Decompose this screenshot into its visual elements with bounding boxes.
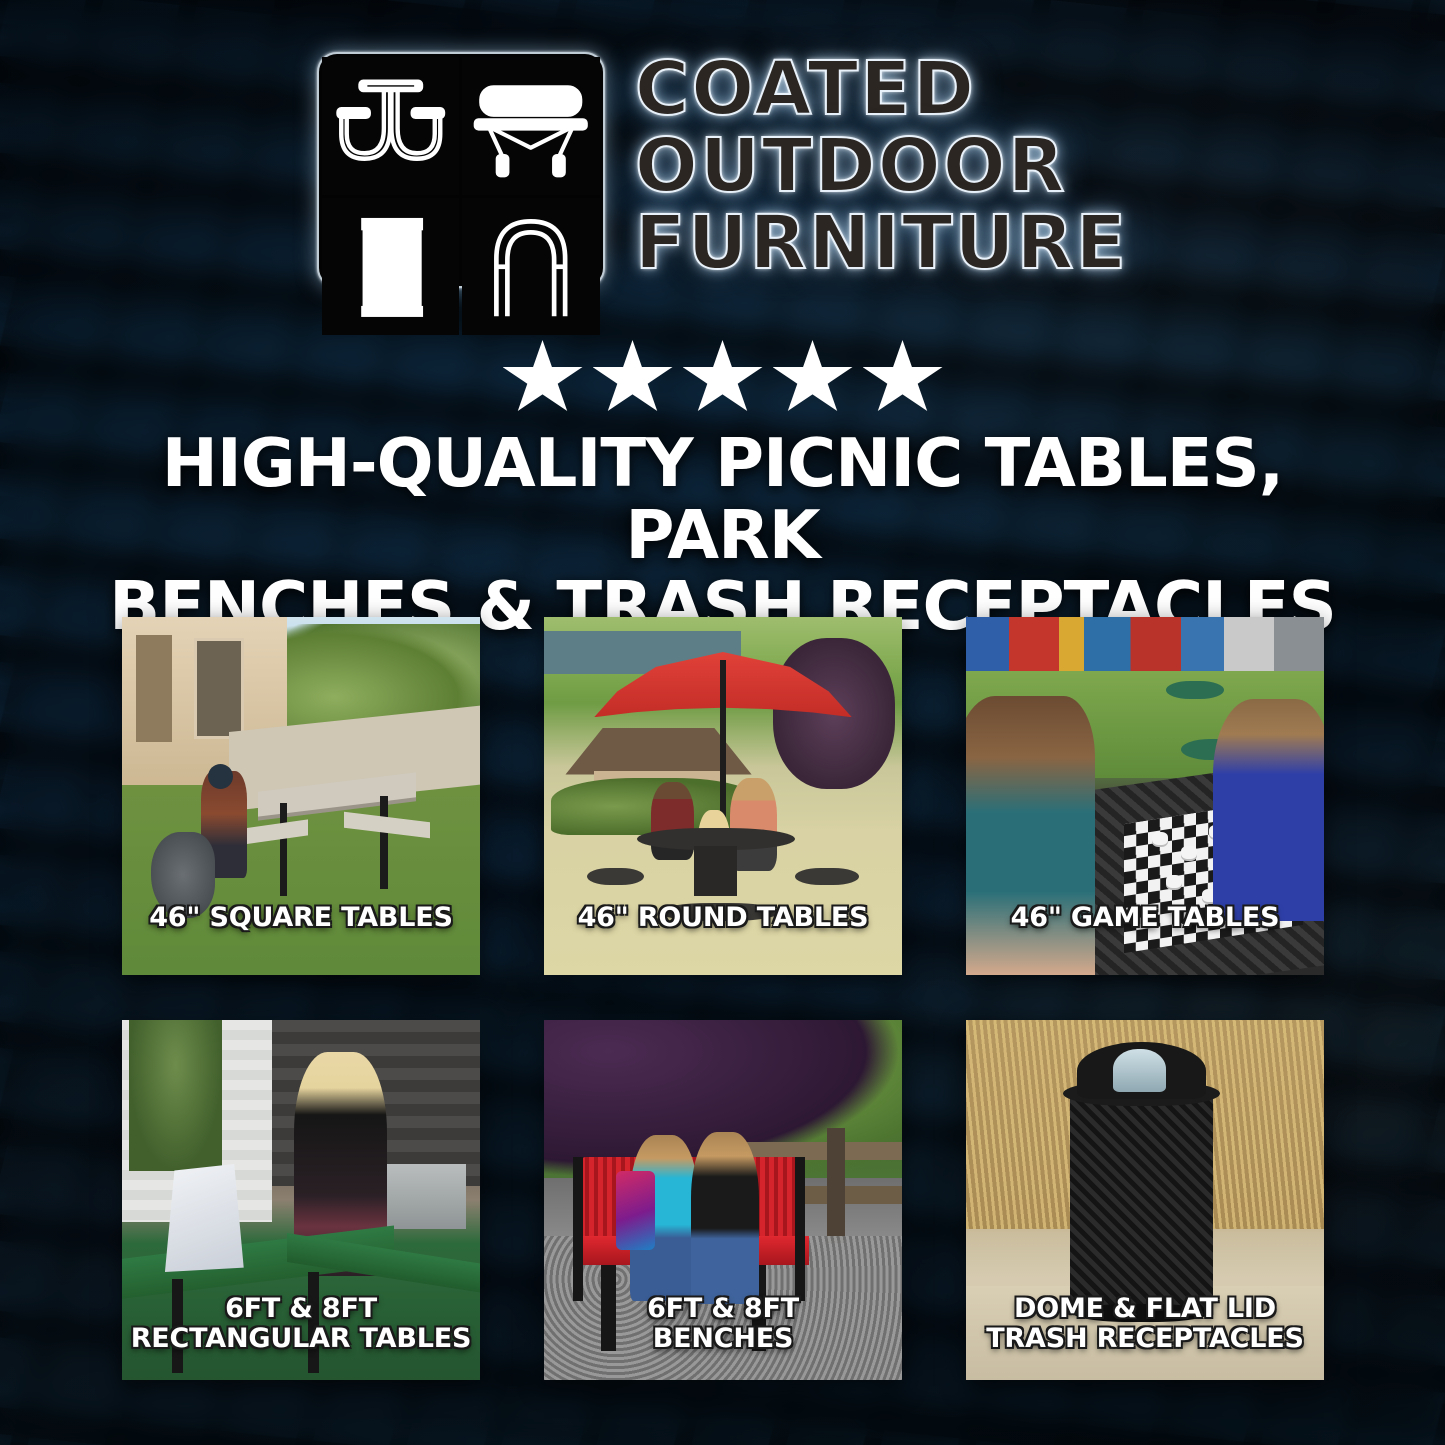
dome-lid-trash-icon <box>462 198 600 336</box>
brand-line-2: OUTDOOR <box>635 131 1128 202</box>
product-caption-benches: 6FT & 8FT BENCHES <box>544 1294 902 1380</box>
caption-line-2: RECTANGULAR TABLES <box>130 1324 472 1354</box>
product-caption-trash-receptacles: DOME & FLAT LID TRASH RECEPTACLES <box>966 1294 1324 1380</box>
caption-line-1: DOME & FLAT LID <box>974 1294 1316 1324</box>
star-icon-5 <box>863 340 943 416</box>
product-caption-square-tables: 46" SQUARE TABLES <box>122 903 480 975</box>
star-icon-3 <box>683 340 763 416</box>
brand-logo-mark <box>317 52 605 288</box>
caption-line-1: 46" GAME TABLES <box>974 903 1316 933</box>
caption-line-1: 46" ROUND TABLES <box>552 903 894 933</box>
caption-line-1: 6FT & 8FT <box>552 1294 894 1324</box>
product-caption-game-tables: 46" GAME TABLES <box>966 903 1324 975</box>
caption-line-2: TRASH RECEPTACLES <box>974 1324 1316 1354</box>
product-tile-round-tables[interactable]: 46" ROUND TABLES <box>544 617 902 975</box>
product-caption-rectangular-tables: 6FT & 8FT RECTANGULAR TABLES <box>122 1294 480 1380</box>
brand-header: COATED OUTDOOR FURNITURE <box>0 52 1445 288</box>
product-tile-benches[interactable]: 6FT & 8FT BENCHES <box>544 1020 902 1380</box>
product-tile-rectangular-tables[interactable]: 6FT & 8FT RECTANGULAR TABLES <box>122 1020 480 1380</box>
caption-line-1: 46" SQUARE TABLES <box>130 903 472 933</box>
star-rating <box>0 340 1445 416</box>
star-icon-4 <box>773 340 853 416</box>
caption-line-2: BENCHES <box>552 1324 894 1354</box>
brand-line-3: FURNITURE <box>635 208 1128 279</box>
bench-icon <box>462 57 600 195</box>
caption-line-1: 6FT & 8FT <box>130 1294 472 1324</box>
advertisement-banner: COATED OUTDOOR FURNITURE HIGH-QUALITY PI… <box>0 0 1445 1445</box>
star-icon-1 <box>503 340 583 416</box>
product-tile-game-tables[interactable]: 46" GAME TABLES <box>966 617 1324 975</box>
product-grid: 46" SQUARE TABLES <box>122 617 1324 1380</box>
headline: HIGH-QUALITY PICNIC TABLES, PARK BENCHES… <box>60 428 1385 643</box>
product-tile-square-tables[interactable]: 46" SQUARE TABLES <box>122 617 480 975</box>
star-icon-2 <box>593 340 673 416</box>
flat-lid-trash-icon <box>322 198 460 336</box>
brand-wordmark: COATED OUTDOOR FURNITURE <box>635 52 1128 285</box>
product-tile-trash-receptacles[interactable]: DOME & FLAT LID TRASH RECEPTACLES <box>966 1020 1324 1380</box>
picnic-table-icon <box>322 57 460 195</box>
headline-line-1: HIGH-QUALITY PICNIC TABLES, PARK <box>60 428 1385 571</box>
product-caption-round-tables: 46" ROUND TABLES <box>544 903 902 975</box>
brand-line-1: COATED <box>635 54 1128 125</box>
